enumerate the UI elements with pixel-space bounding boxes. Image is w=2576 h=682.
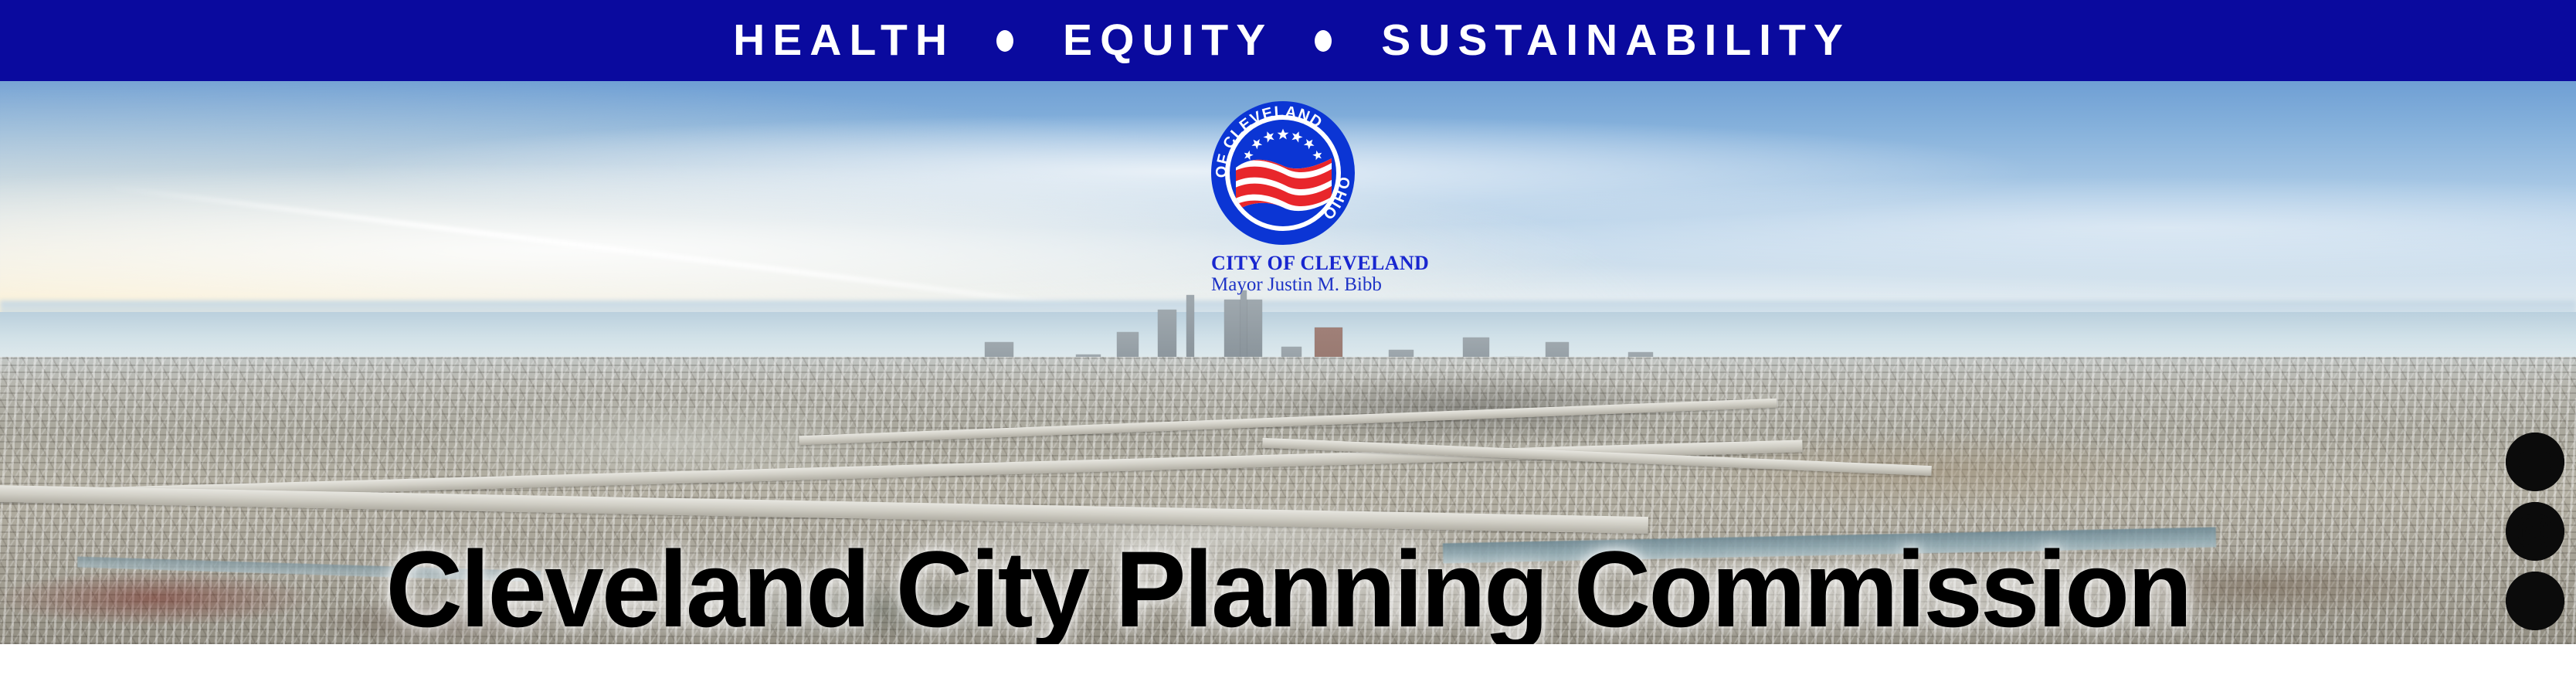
city-of-cleveland-seal-icon: CITY OF CLEVELAND OHIO [1211, 101, 1355, 245]
hero-photo: CITY OF CLEVELAND OHIO CITY OF CLEVELAND… [0, 81, 2576, 644]
youtube-link[interactable] [2506, 433, 2564, 491]
dot-separator-icon [1315, 30, 1332, 52]
banner-page: HEALTH EQUITY SUSTAINABILITY [0, 0, 2576, 682]
svg-text:CITY OF CLEVELAND: CITY OF CLEVELAND [1211, 101, 1325, 178]
page-title: Cleveland City Planning Commission [19, 535, 2557, 643]
instagram-link[interactable] [2506, 502, 2564, 561]
tagline-word-sustainability: SUSTAINABILITY [1373, 19, 1851, 63]
dot-separator-icon [996, 30, 1013, 52]
seal-ring-text: CITY OF CLEVELAND OHIO [1211, 101, 1355, 245]
tagline-banner: HEALTH EQUITY SUSTAINABILITY [0, 0, 2576, 81]
mayor-name: Mayor Justin M. Bibb [1211, 275, 1355, 295]
facebook-icon [2506, 572, 2564, 630]
city-seal-block: CITY OF CLEVELAND OHIO CITY OF CLEVELAND… [1211, 101, 1355, 296]
social-links [2506, 433, 2564, 630]
org-name: CITY OF CLEVELAND [1211, 253, 1355, 273]
tagline-word-equity: EQUITY [1055, 19, 1273, 63]
youtube-icon [2506, 433, 2564, 491]
bottom-white-strip [0, 644, 2576, 682]
facebook-link[interactable] [2506, 572, 2564, 630]
instagram-icon [2506, 502, 2564, 561]
svg-text:OHIO: OHIO [1319, 175, 1352, 223]
tagline-word-health: HEALTH [725, 19, 955, 63]
